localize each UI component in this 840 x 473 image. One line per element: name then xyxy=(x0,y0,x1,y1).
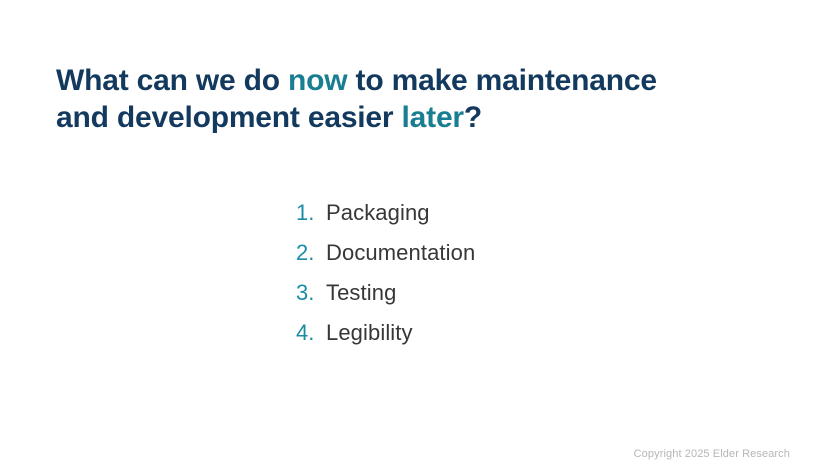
list-item-label: Legibility xyxy=(326,313,413,353)
list-item: 4. Legibility xyxy=(296,313,475,353)
list-item-label: Packaging xyxy=(326,193,430,233)
title-segment-3: ? xyxy=(464,101,482,134)
list-item: 1. Packaging xyxy=(296,193,475,233)
numbered-list: 1. Packaging 2. Documentation 3. Testing… xyxy=(296,193,475,353)
list-item: 3. Testing xyxy=(296,273,475,313)
list-item-number: 2. xyxy=(296,233,326,273)
list-item-number: 4. xyxy=(296,313,326,353)
title-highlight-later: later xyxy=(402,101,464,134)
copyright-footer: Copyright 2025 Elder Research xyxy=(634,448,790,460)
list-item: 2. Documentation xyxy=(296,233,475,273)
list-item-label: Testing xyxy=(326,273,396,313)
title-highlight-now: now xyxy=(288,64,347,97)
list-item-number: 3. xyxy=(296,273,326,313)
slide-title: What can we do now to make maintenance a… xyxy=(56,62,716,136)
list-item-label: Documentation xyxy=(326,233,475,273)
slide-canvas: What can we do now to make maintenance a… xyxy=(0,0,840,473)
title-segment-1: What can we do xyxy=(56,64,288,97)
list-item-number: 1. xyxy=(296,193,326,233)
